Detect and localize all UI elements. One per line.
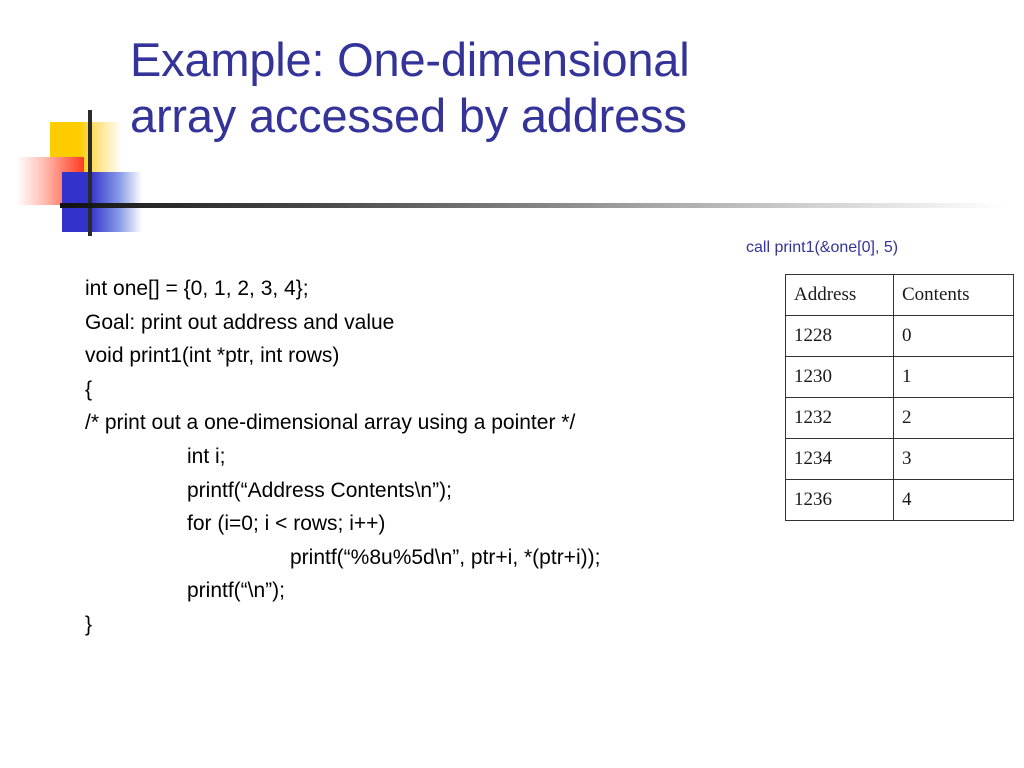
table-column-header: Contents	[894, 275, 1014, 316]
table-cell-address: 1236	[786, 480, 894, 521]
decorative-logo-cluster	[0, 95, 170, 245]
table-row: 12322	[786, 398, 1014, 439]
table-cell-contents: 0	[894, 316, 1014, 357]
page-title: Example: One-dimensional array accessed …	[130, 32, 920, 144]
memory-table: AddressContents 122801230112322123431236…	[785, 274, 1014, 521]
table-column-header: Address	[786, 275, 894, 316]
code-line: void print1(int *ptr, int rows)	[85, 339, 785, 373]
code-block: int one[] = {0, 1, 2, 3, 4};Goal: print …	[85, 272, 785, 642]
code-line: printf(“Address Contents\n”);	[85, 474, 785, 508]
table-cell-address: 1234	[786, 439, 894, 480]
title-line-2: array accessed by address	[130, 88, 920, 144]
code-line: int i;	[85, 440, 785, 474]
table-cell-contents: 2	[894, 398, 1014, 439]
code-line: /* print out a one-dimensional array usi…	[85, 406, 785, 440]
code-line: }	[85, 608, 785, 642]
table-row: 12301	[786, 357, 1014, 398]
table-body: 1228012301123221234312364	[786, 316, 1014, 521]
code-line: Goal: print out address and value	[85, 306, 785, 340]
code-line: {	[85, 373, 785, 407]
code-line: int one[] = {0, 1, 2, 3, 4};	[85, 272, 785, 306]
table-row: 12280	[786, 316, 1014, 357]
call-annotation-label: call print1(&one[0], 5)	[746, 238, 898, 258]
table-cell-contents: 4	[894, 480, 1014, 521]
table-header-row: AddressContents	[786, 275, 1014, 316]
table-cell-address: 1228	[786, 316, 894, 357]
table-cell-address: 1230	[786, 357, 894, 398]
code-line: printf(“\n”);	[85, 574, 785, 608]
table-cell-address: 1232	[786, 398, 894, 439]
horizontal-rule-divider	[60, 203, 1006, 208]
title-line-1: Example: One-dimensional	[130, 32, 920, 88]
slide-canvas: Example: One-dimensional array accessed …	[0, 0, 1024, 768]
table-row: 12343	[786, 439, 1014, 480]
table-cell-contents: 1	[894, 357, 1014, 398]
vertical-rule-decoration	[88, 110, 92, 236]
table-cell-contents: 3	[894, 439, 1014, 480]
code-line: for (i=0; i < rows; i++)	[85, 507, 785, 541]
blue-square-decoration	[62, 172, 142, 232]
table-row: 12364	[786, 480, 1014, 521]
code-line: printf(“%8u%5d\n”, ptr+i, *(ptr+i));	[85, 541, 785, 575]
